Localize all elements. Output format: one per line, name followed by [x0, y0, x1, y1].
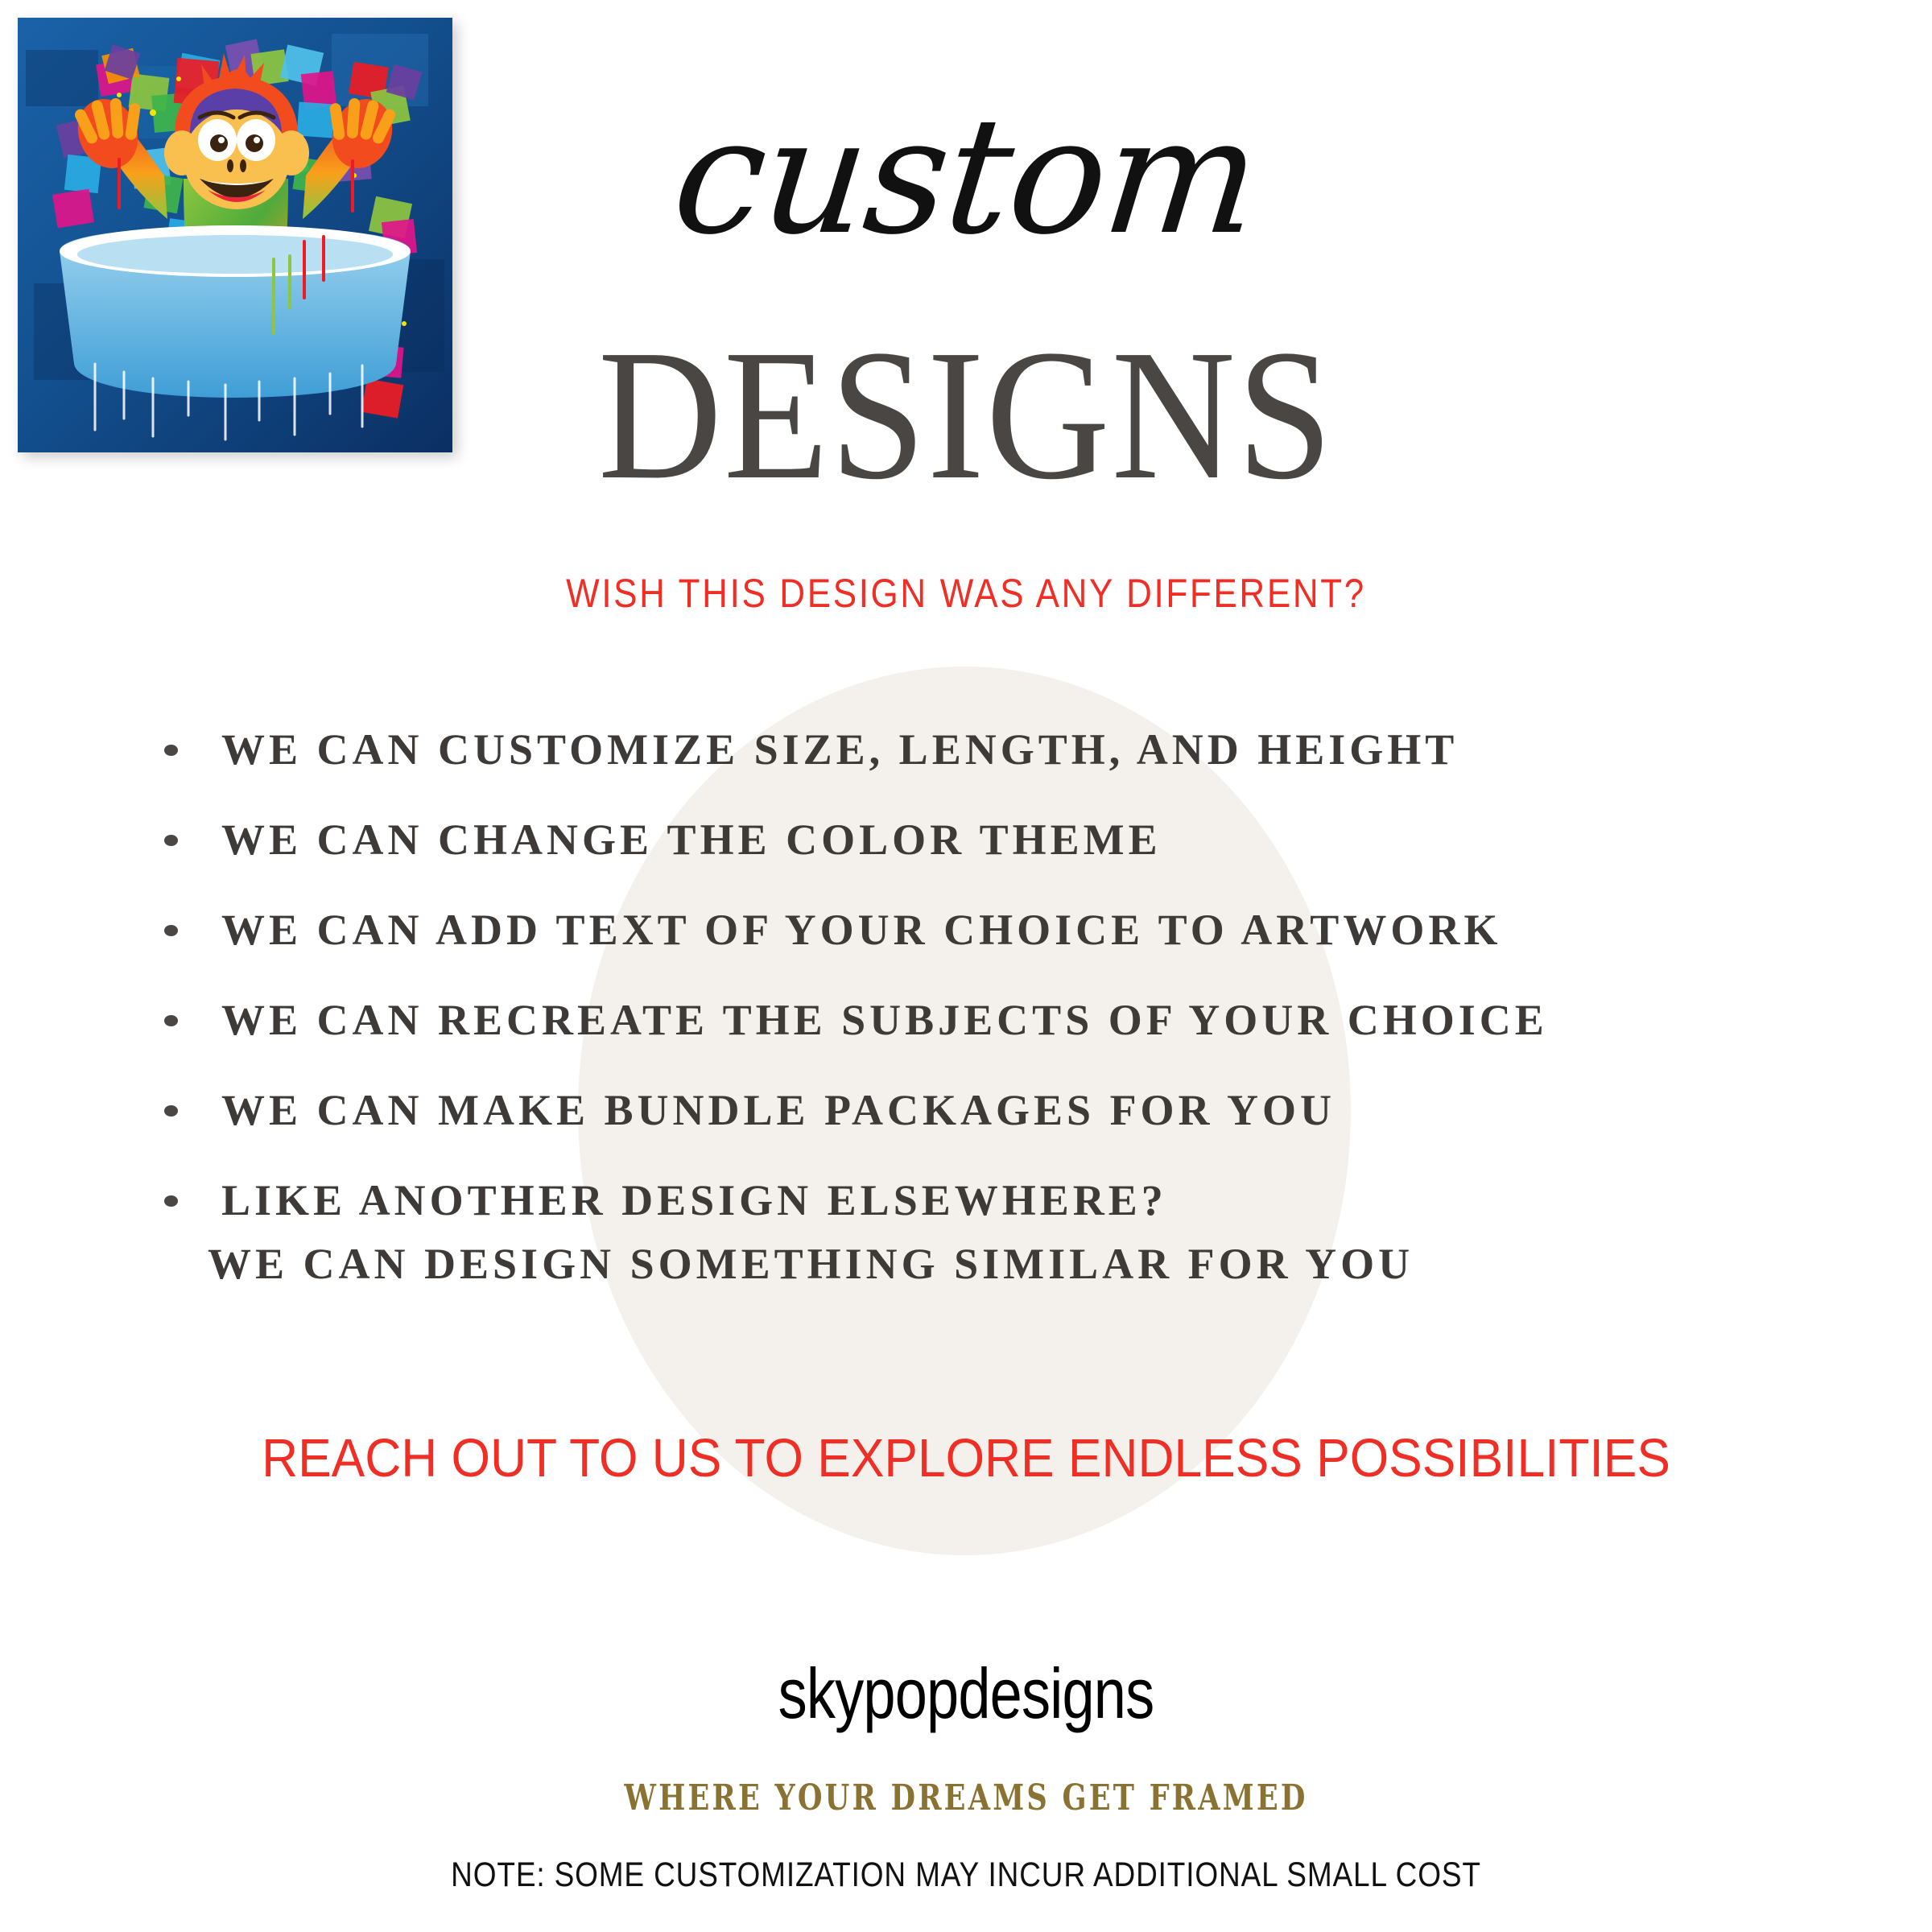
bullet-dot-icon [164, 835, 178, 846]
call-to-action-text: REACH OUT TO US TO EXPLORE ENDLESS POSSI… [68, 1431, 1864, 1485]
footnote-text: NOTE: SOME CUSTOMIZATION MAY INCUR ADDIT… [135, 1858, 1797, 1893]
list-item-label: WE CAN RECREATE THE SUBJECTS OF YOUR CHO… [221, 996, 1548, 1044]
list-item: WE CAN CUSTOMIZE SIZE, LENGTH, AND HEIGH… [153, 704, 1843, 795]
list-item: WE CAN ADD TEXT OF YOUR CHOICE TO ARTWOR… [153, 885, 1843, 975]
bullet-dot-icon [164, 925, 178, 936]
brand-tagline: WHERE YOUR DREAMS GET FRAMED [193, 1781, 1739, 1816]
list-continuation-text: WE CAN DESIGN SOMETHING SIMILAR FOR YOU [208, 1242, 1414, 1286]
list-item: WE CAN CHANGE THE COLOR THEME [153, 795, 1843, 885]
bullet-dot-icon [164, 745, 178, 756]
bullet-dot-icon [164, 1105, 178, 1117]
bullet-dot-icon [164, 1195, 178, 1207]
list-item-label: WE CAN CHANGE THE COLOR THEME [221, 815, 1162, 864]
subtitle: WISH THIS DESIGN WAS ANY DIFFERENT? [116, 573, 1816, 613]
list-item-label: WE CAN MAKE BUNDLE PACKAGES FOR YOU [221, 1086, 1335, 1134]
list-item-label: WE CAN CUSTOMIZE SIZE, LENGTH, AND HEIGH… [221, 725, 1458, 774]
list-item-label: LIKE ANOTHER DESIGN ELSEWHERE? [221, 1176, 1167, 1224]
artwork-thumbnail [18, 18, 452, 452]
list-item: WE CAN MAKE BUNDLE PACKAGES FOR YOU [153, 1065, 1843, 1155]
monkey-bathtub-painting-icon [18, 18, 452, 452]
list-item-label: WE CAN ADD TEXT OF YOUR CHOICE TO ARTWOR… [221, 906, 1501, 954]
bullet-dot-icon [164, 1015, 178, 1026]
benefits-list: WE CAN CUSTOMIZE SIZE, LENGTH, AND HEIGH… [153, 704, 1843, 1245]
list-item: WE CAN RECREATE THE SUBJECTS OF YOUR CHO… [153, 975, 1843, 1065]
artwork-canvas [18, 18, 452, 452]
brand-logo-text: skypopdesigns [174, 1658, 1758, 1729]
list-item: LIKE ANOTHER DESIGN ELSEWHERE? [153, 1155, 1843, 1245]
